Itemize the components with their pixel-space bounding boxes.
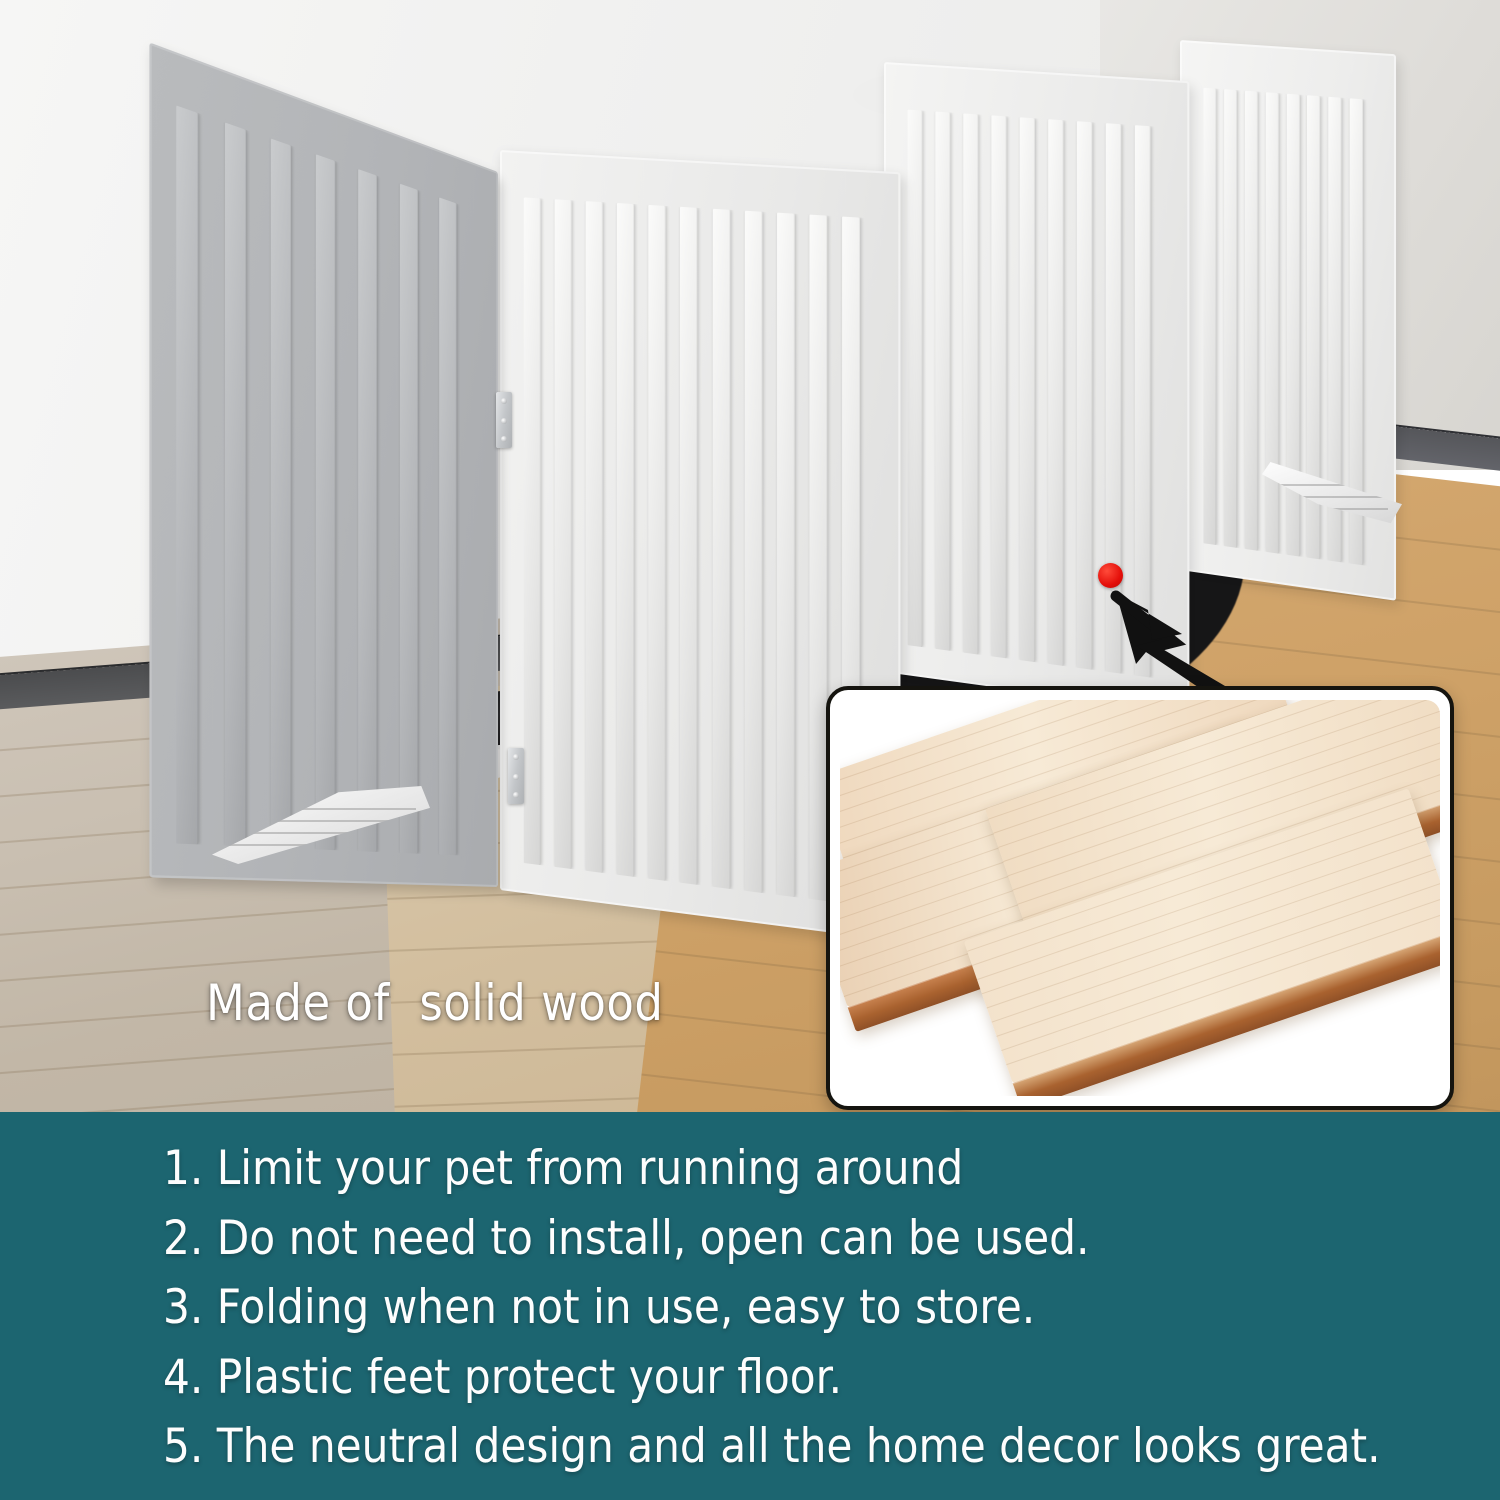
hinge-top (496, 392, 512, 448)
gate-slat (176, 105, 198, 844)
gate-slat (1224, 89, 1237, 548)
gate-slat (271, 139, 291, 849)
caption-made-of-solid-wood: Made of solid wood (206, 974, 664, 1032)
gate-slat (1135, 125, 1151, 677)
feature-item-1: 1. Limit your pet from running around (163, 1134, 1460, 1204)
feature-item-2: 2. Do not need to install, open can be u… (163, 1204, 1460, 1274)
gate-slat (680, 207, 697, 885)
gate-slat (963, 113, 978, 654)
gate-panel-4 (1180, 40, 1396, 601)
gate-slat (1020, 117, 1035, 662)
gate-slat (712, 209, 730, 889)
gate-slat (586, 201, 603, 873)
product-photo-scene: Made of solid wood (0, 0, 1500, 1112)
gate-slat (1048, 119, 1063, 666)
wood-grain-line (1006, 911, 1440, 1065)
gate-slat (358, 169, 377, 852)
gate-slat (809, 215, 827, 902)
gate-slat (1245, 91, 1258, 551)
gate-slat (316, 154, 335, 850)
gate-slat (1203, 88, 1216, 545)
slat-group-1 (176, 105, 478, 856)
gate-slat (617, 203, 634, 877)
slat-group-3 (908, 110, 1165, 680)
gate-slat (908, 110, 923, 648)
gate-slat (555, 199, 572, 869)
gate-slat (777, 213, 795, 897)
gate-panel-3 (884, 62, 1189, 714)
gate-slat (225, 122, 246, 846)
gate-slat (400, 184, 418, 854)
feature-item-5: 5. The neutral design and all the home d… (163, 1412, 1460, 1482)
feature-item-3: 3. Folding when not in use, easy to stor… (163, 1273, 1460, 1343)
gate-slat (935, 112, 950, 651)
product-infographic: Made of solid wood 1. Limit your pet fro… (0, 0, 1500, 1500)
gate-panel-1 (149, 42, 498, 887)
slat-group-2 (524, 197, 875, 907)
hinge-bottom (508, 748, 524, 804)
gate-slat (1077, 121, 1092, 670)
feature-item-4: 4. Plastic feet protect your floor. (163, 1343, 1460, 1413)
gate-slat (649, 205, 666, 881)
gate-slat (440, 198, 457, 856)
red-dot-marker (1098, 563, 1123, 588)
gate-slat (1106, 123, 1122, 673)
features-panel: 1. Limit your pet from running around2. … (0, 1112, 1500, 1500)
features-list: 1. Limit your pet from running around2. … (163, 1134, 1460, 1482)
gate-slat (524, 197, 541, 865)
wood-detail-inset (826, 686, 1454, 1110)
wood-boards-photo (840, 700, 1440, 1096)
gate-slat (991, 115, 1006, 658)
gate-slat (744, 211, 762, 893)
gate-slat (1265, 92, 1278, 553)
